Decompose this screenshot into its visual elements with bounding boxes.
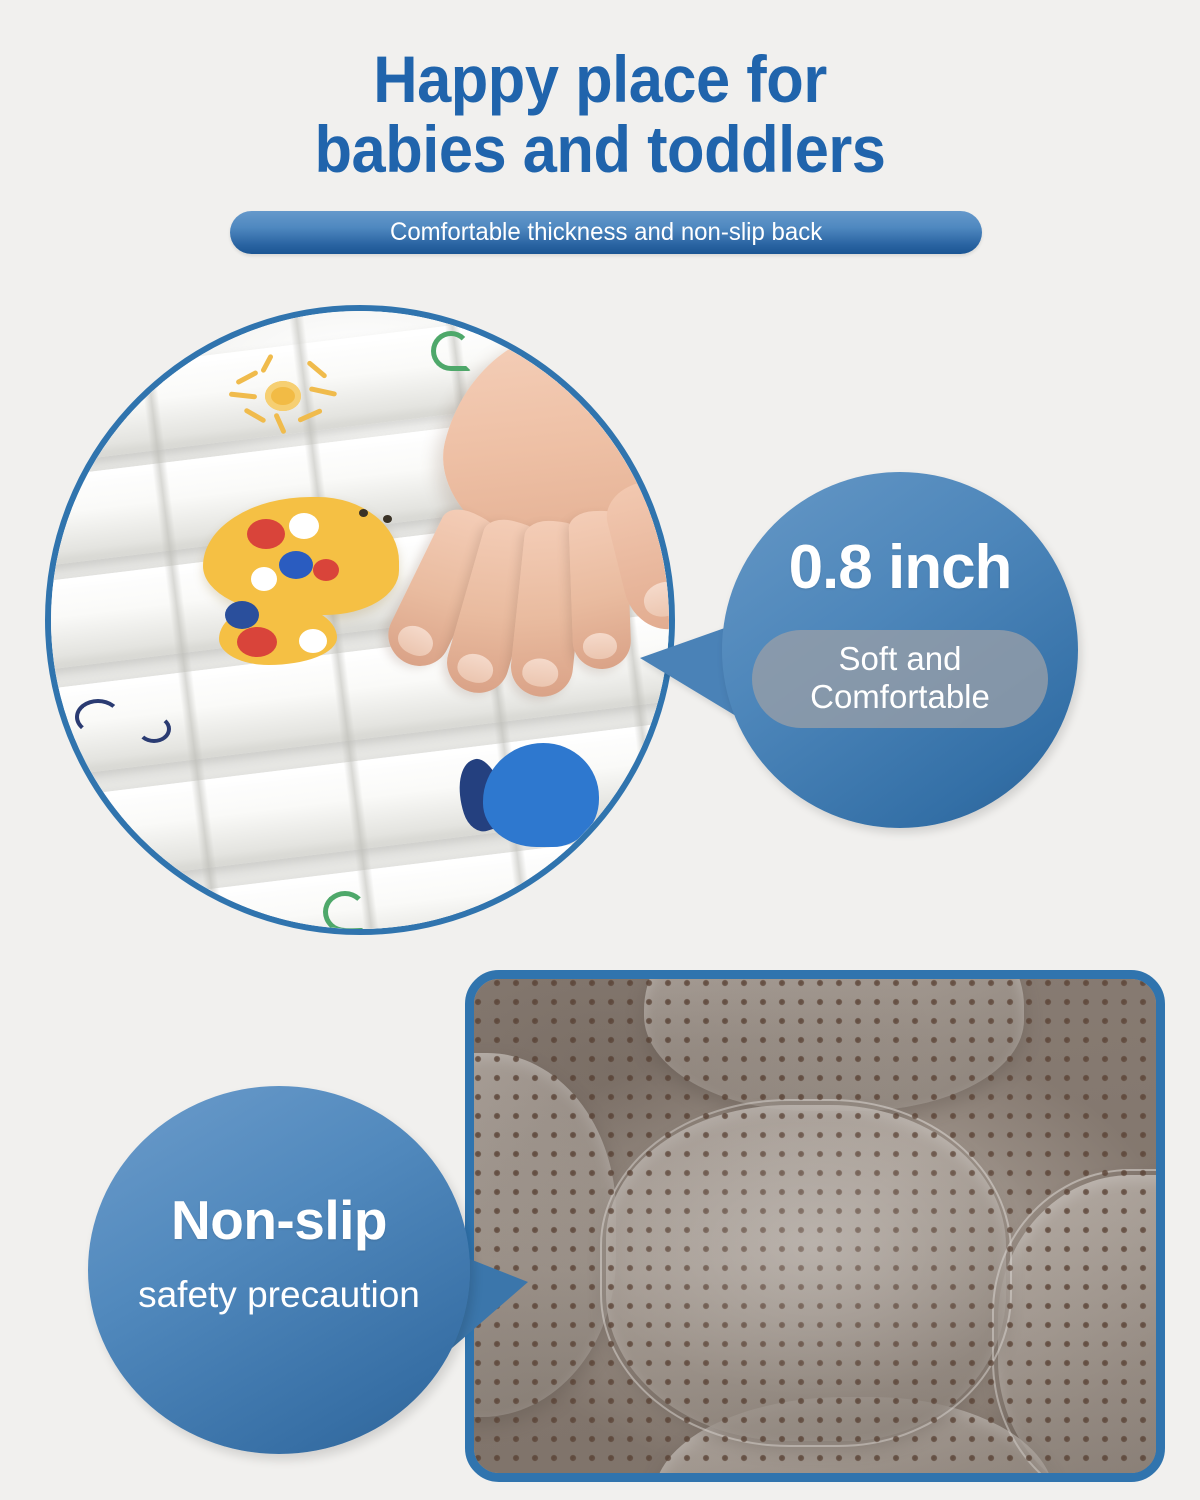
hand-pressing-mattress <box>351 331 669 751</box>
nonslip-back-photo-inner <box>474 979 1156 1473</box>
nonslip-back-photo <box>465 970 1165 1482</box>
thickness-value: 0.8 inch <box>722 532 1078 603</box>
sun-print-icon <box>227 359 339 437</box>
callout-bubble <box>88 1086 470 1454</box>
mattress-top-photo <box>45 305 675 935</box>
subtitle-banner: Comfortable thickness and non-slip back <box>230 211 982 254</box>
doodle-navy <box>137 715 171 743</box>
nonslip-subtitle: safety precaution <box>88 1274 470 1316</box>
thickness-sublabel-line-1: Soft and <box>752 640 1048 678</box>
print-dot-blue <box>279 551 313 579</box>
print-dot-red <box>237 627 277 657</box>
headline-line-1: Happy place for <box>42 44 1158 114</box>
headline-line-2: babies and toddlers <box>42 114 1158 184</box>
thickness-callout-badge: 0.8 inch Soft and Comfortable <box>722 472 1078 828</box>
page-title: Happy place for babies and toddlers <box>42 44 1158 184</box>
product-feature-graphic: Happy place for babies and toddlers Comf… <box>0 0 1200 1500</box>
subtitle-text: Comfortable thickness and non-slip back <box>390 218 822 247</box>
nonslip-callout-badge: Non-slip safety precaution <box>88 1086 470 1454</box>
print-dot-white <box>289 513 319 539</box>
nonslip-title: Non-slip <box>88 1188 470 1252</box>
doodle-navy <box>75 699 121 735</box>
print-dot-navy <box>225 601 259 629</box>
animal-print-blue <box>483 743 599 847</box>
thickness-sublabel-pill: Soft and Comfortable <box>752 630 1048 728</box>
thickness-sublabel-line-2: Comfortable <box>752 678 1048 716</box>
mattress-top-photo-inner <box>51 311 669 929</box>
print-dot-white <box>251 567 277 591</box>
print-dot-red <box>313 559 339 581</box>
doodle-green <box>323 891 367 929</box>
print-dot-white <box>299 629 327 653</box>
print-dot-red <box>247 519 285 549</box>
photo-shading <box>474 979 1156 1473</box>
